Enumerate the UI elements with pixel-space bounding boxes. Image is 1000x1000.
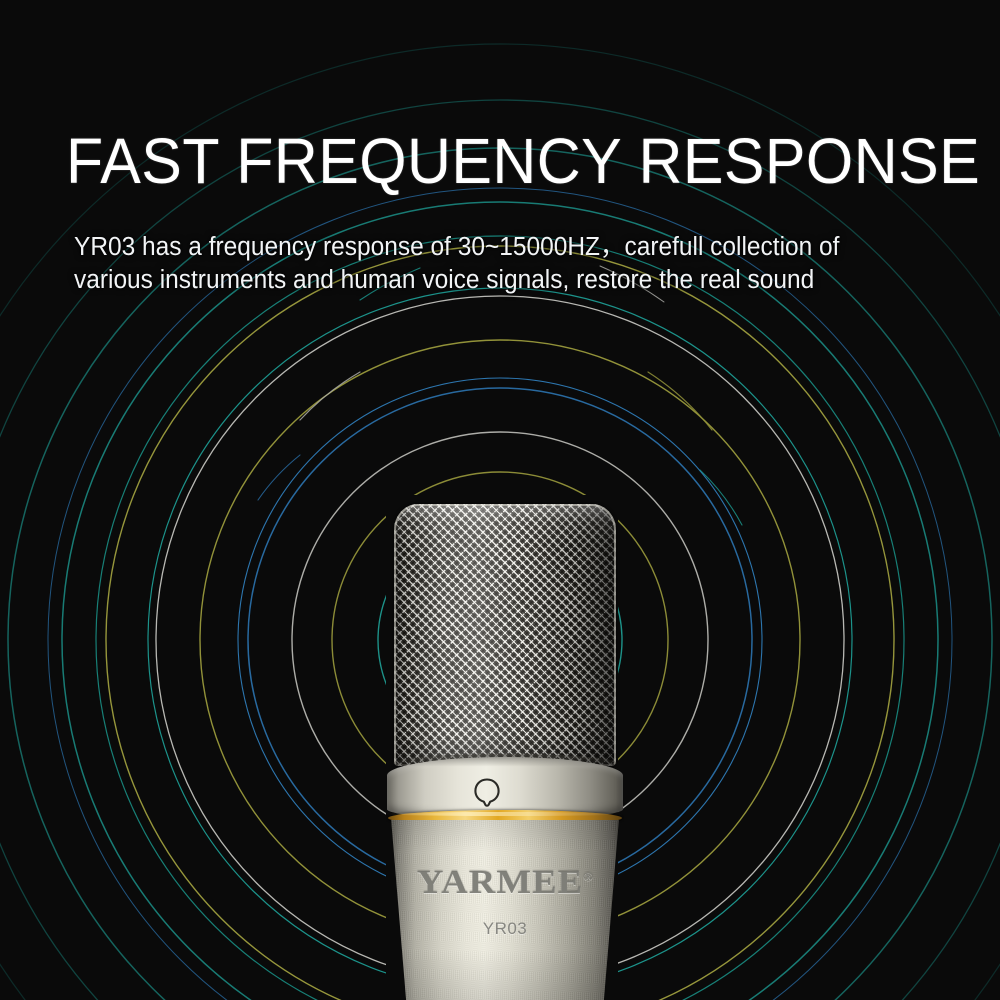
- cardioid-pattern-icon: [470, 775, 504, 809]
- product-description: YR03 has a frequency response of 30~1500…: [74, 231, 938, 297]
- brand-name: YARMEE: [417, 864, 583, 901]
- microphone-product-image: YARMEE® YR03: [370, 495, 640, 1000]
- collar-top-edge: [393, 754, 617, 772]
- description-line-1: YR03 has a frequency response of 30~1500…: [74, 233, 839, 261]
- grille-rim: [394, 504, 616, 766]
- microphone-body: [390, 820, 620, 1000]
- brand-logo: YARMEE®: [359, 864, 651, 902]
- registered-trademark-mark: ®: [583, 870, 593, 884]
- page-title: FAST FREQUENCY RESPONSE: [66, 129, 980, 193]
- model-number: YR03: [370, 919, 640, 939]
- gold-ring-highlight: [388, 812, 622, 816]
- body-shading: [390, 820, 620, 1000]
- microphone-grille: [394, 504, 616, 766]
- product-feature-banner: FAST FREQUENCY RESPONSE YR03 has a frequ…: [0, 0, 1000, 1000]
- description-line-2: various instruments and human voice sign…: [74, 266, 814, 294]
